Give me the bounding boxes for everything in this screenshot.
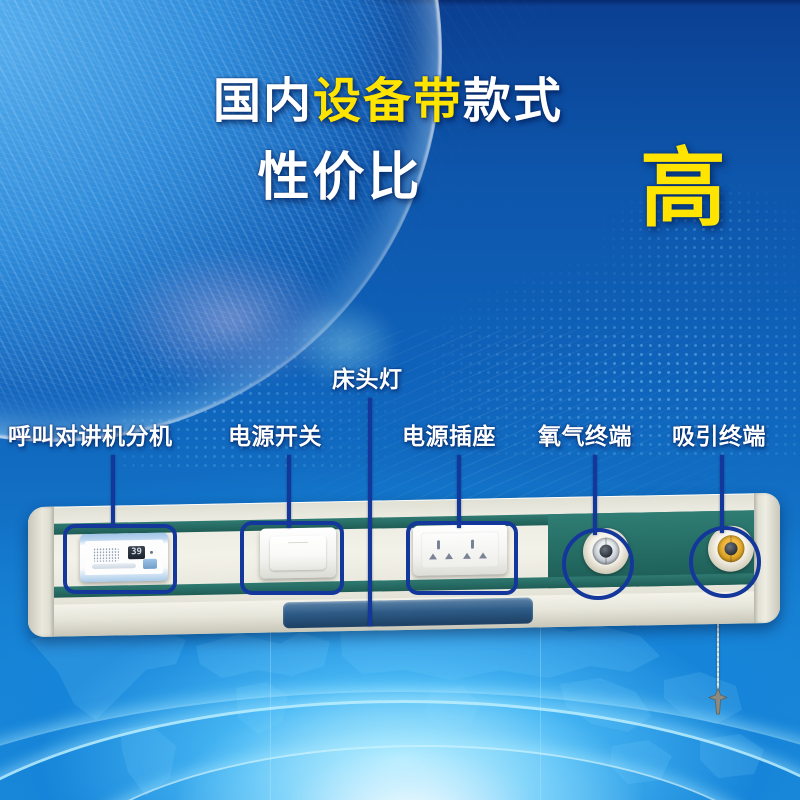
- highlight-box-power-socket: [406, 521, 518, 595]
- callout-label-power-switch: 电源开关: [228, 417, 322, 451]
- highlight-circle-oxygen: [562, 528, 634, 600]
- headline-line1-highlight: 设备带: [313, 75, 463, 128]
- callout-label-oxygen: 氧气终端: [538, 417, 632, 451]
- leader-line-suction: [720, 455, 724, 533]
- panel-end-cap-left: [28, 507, 54, 637]
- leader-line-power-switch: [287, 455, 291, 528]
- highlight-circle-suction: [689, 526, 761, 598]
- headline-line-1: 国内设备带款式: [0, 78, 800, 126]
- leader-line-oxygen: [593, 455, 597, 535]
- leader-line-power-socket: [457, 455, 461, 528]
- horizon-glow: [180, 690, 640, 800]
- callout-label-bed-lamp: 床头灯: [332, 360, 403, 394]
- leader-line-intercom: [111, 455, 115, 528]
- highlight-box-power-switch: [240, 521, 344, 595]
- leader-line-bed-lamp: [368, 398, 372, 626]
- headline-emphasis-gao: 高: [640, 146, 726, 232]
- pull-cord-clip-icon: [707, 688, 729, 716]
- headline-line1-part2: 款式: [463, 75, 563, 128]
- highlight-box-intercom: [63, 524, 177, 594]
- callout-label-intercom: 呼叫对讲机分机: [8, 417, 173, 451]
- panel-blue-accent-rail: [283, 598, 533, 629]
- callout-label-suction: 吸引终端: [672, 417, 766, 451]
- promo-banner: 国内设备带款式 性价比 高 呼叫对讲机分机 电源开关 床头灯 电源插座 氧气终端…: [0, 0, 800, 800]
- headline-line1-part1: 国内: [213, 75, 313, 128]
- callout-label-power-socket: 电源插座: [402, 417, 496, 451]
